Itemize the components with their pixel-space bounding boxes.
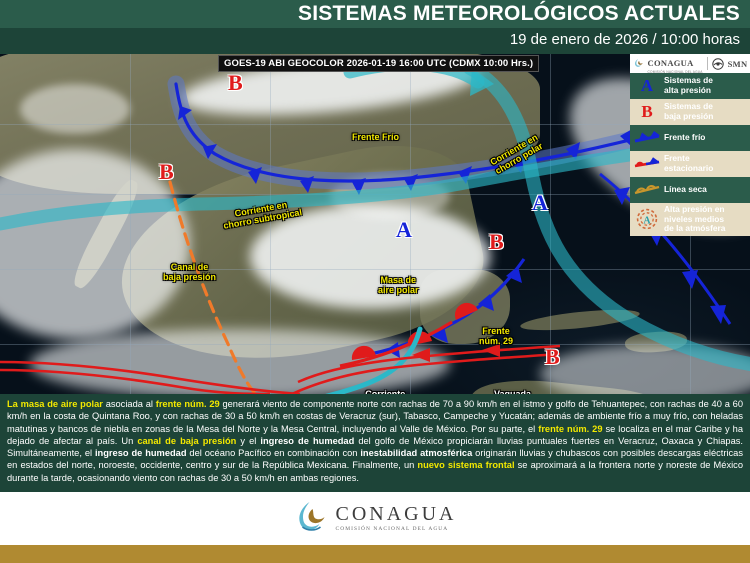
itcz-line-b [0, 370, 270, 394]
legend-item-mid-level-high[interactable]: A Alta presión en niveles medios de la a… [630, 203, 750, 236]
monsoon-arrowhead-1 [412, 348, 430, 362]
cold-front-band [176, 84, 700, 181]
header-bar: SISTEMAS METEOROLÓGICOS ACTUALES [0, 0, 750, 28]
legend-label: Línea seca [664, 185, 710, 195]
label-frente-num-29: Frente núm. 29 [479, 326, 513, 346]
legend-item-low-pressure[interactable]: B Sistemas de baja presión [630, 99, 750, 125]
label-masa-aire-polar: Masa de aire polar [378, 275, 419, 295]
legend-item-high-pressure[interactable]: A Sistemas de alta presión [630, 73, 750, 99]
footer-gold-bar [0, 545, 750, 563]
dry-line-icon [630, 183, 664, 197]
forecast-paragraph: La masa de aire polar asociada al frente… [7, 398, 743, 484]
smn-logo-text: SMN [728, 59, 748, 69]
forecast-segment: y el [236, 436, 260, 446]
low-level-jet [278, 329, 420, 394]
low-pressure-marker-north: B [228, 70, 243, 96]
forecast-text-panel: La masa de aire polar asociada al frente… [0, 394, 750, 492]
footer-conagua-subtitle: COMISIÓN NACIONAL DEL AGUA [336, 526, 457, 532]
forecast-segment: frente núm. 29 [156, 399, 220, 409]
subheader-bar: 19 de enero de 2026 / 10:00 horas [0, 28, 750, 54]
weather-bulletin-page: SISTEMAS METEOROLÓGICOS ACTUALES 19 de e… [0, 0, 750, 563]
forecast-segment: del océano Pacífico en combinación con [187, 448, 361, 458]
bulletin-date: 19 de enero de 2026 / 10:00 horas [510, 31, 740, 48]
forecast-segment: La masa de aire polar [7, 399, 103, 409]
front-29-warm-bumps [352, 303, 478, 360]
legend-panel: A Sistemas de alta presión B Sistemas de… [630, 73, 750, 236]
legend-label: Sistemas de baja presión [664, 102, 716, 121]
label-frente-frio: Frente Frío [352, 132, 399, 142]
legend-item-dry-line[interactable]: Línea seca [630, 177, 750, 203]
high-pressure-marker-gulf: A [396, 217, 412, 243]
svg-text:A: A [643, 216, 651, 227]
forecast-segment: ingreso de humedad [260, 436, 354, 446]
agency-logo-bar: CONAGUA COMISIÓN NACIONAL DEL AGUA SMN [630, 54, 750, 73]
legend-label: Frente estacionario [664, 154, 716, 173]
forecast-segment: nuevo sistema frontal [417, 460, 514, 470]
low-pressure-marker-caribbean: B [545, 344, 560, 370]
footer-conagua-name: CONAGUA [336, 504, 457, 524]
cold-front-icon [630, 131, 664, 145]
satellite-map[interactable]: B B B B A A Frente Frío Corriente en cho… [0, 54, 750, 394]
stationary-front-icon [630, 157, 664, 171]
conagua-emblem-icon [294, 500, 328, 536]
forecast-segment: asociada al [103, 399, 156, 409]
mid-level-high-icon: A [630, 208, 664, 230]
logo-divider [707, 57, 708, 70]
label-canal-baja-presion: Canal de baja presión [163, 262, 216, 282]
footer-logo-text: CONAGUA COMISIÓN NACIONAL DEL AGUA [336, 504, 457, 532]
conagua-logo-icon [633, 58, 644, 70]
legend-label: Frente frío [664, 133, 708, 143]
high-pressure-marker-east: A [532, 190, 548, 216]
footer-conagua-logo: CONAGUA COMISIÓN NACIONAL DEL AGUA [294, 500, 457, 536]
page-title: SISTEMAS METEOROLÓGICOS ACTUALES [298, 2, 740, 26]
low-pressure-marker-nw: B [159, 159, 174, 185]
conagua-logo-text: CONAGUA COMISIÓN NACIONAL DEL AGUA [648, 54, 703, 74]
forecast-segment: frente núm. 29 [538, 424, 602, 434]
legend-item-stationary-front[interactable]: Frente estacionario [630, 151, 750, 177]
smn-logo-icon [712, 58, 724, 70]
low-pressure-marker-front29: B [489, 229, 504, 255]
legend-item-cold-front[interactable]: Frente frío [630, 125, 750, 151]
satellite-timestamp: GOES-19 ABI GEOCOLOR 2026-01-19 16:00 UT… [218, 55, 539, 72]
low-pressure-icon: B [630, 102, 664, 122]
forecast-segment: inestabilidad atmosférica [360, 448, 472, 458]
forecast-segment: canal de baja presión [137, 436, 236, 446]
legend-label: Alta presión en niveles medios de la atm… [664, 205, 728, 234]
forecast-segment: ingreso de humedad [95, 448, 187, 458]
legend-label: Sistemas de alta presión [664, 76, 716, 95]
itcz-line-a [0, 362, 300, 394]
high-pressure-icon: A [630, 76, 664, 96]
